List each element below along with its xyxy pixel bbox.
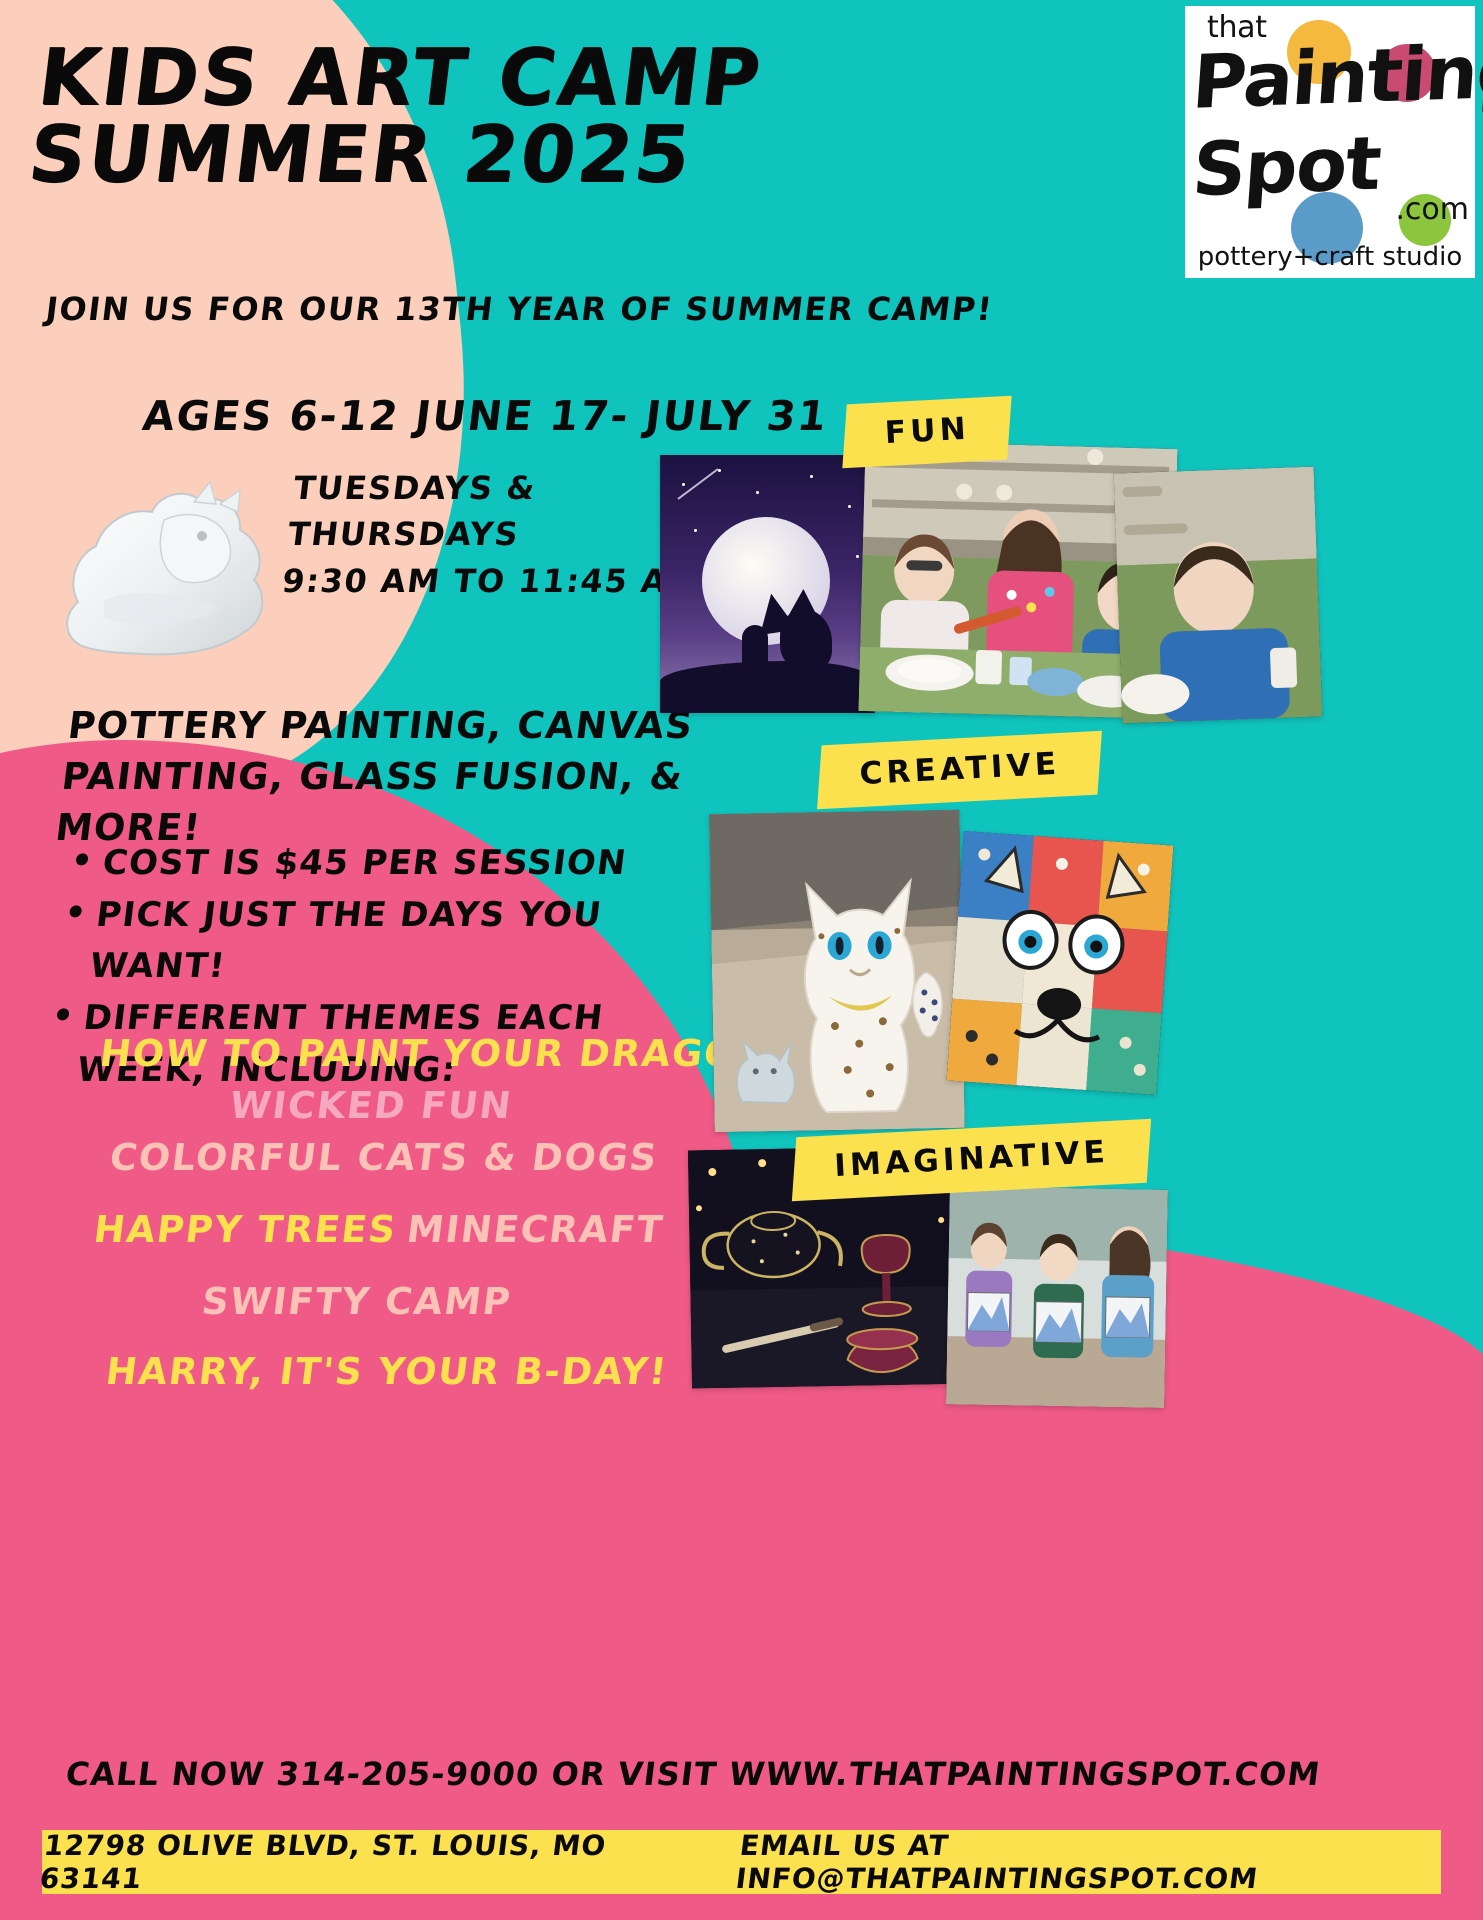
schedule-block: Tuesdays & Thursdays 9:30 am to 11:45 am bbox=[279, 465, 715, 604]
subtitle: Join us for our 13th year of summer camp… bbox=[44, 290, 996, 328]
flyer-canvas: Kids Art Camp Summer 2025 that Painting … bbox=[0, 0, 1483, 1920]
moon-dragon-painting-photo bbox=[660, 455, 875, 713]
schedule-time: 9:30 am to 11:45 am bbox=[279, 558, 703, 604]
ages-and-dates: Ages 6-12 June 17- July 31 bbox=[140, 392, 831, 440]
logo-tagline: pottery+craft studio bbox=[1185, 242, 1475, 272]
theme-name: How to Paint Your Dragon bbox=[98, 1035, 772, 1072]
badge-fun-label: Fun bbox=[884, 411, 971, 451]
theme-name-list: How to Paint Your DragonWicked FunColorf… bbox=[62, 1035, 782, 1415]
list-item: Cost is $45 per session bbox=[62, 838, 748, 890]
schedule-days-1: Tuesdays & bbox=[291, 465, 715, 511]
brand-logo[interactable]: that Painting Spot .com pottery+craft st… bbox=[1185, 6, 1475, 278]
logo-painting-text: Painting bbox=[1189, 28, 1483, 126]
dragon-figurine-photo bbox=[44, 450, 294, 665]
logo-dotcom-text: .com bbox=[1395, 192, 1469, 227]
badge-creative-label: Creative bbox=[859, 746, 1061, 792]
kids-holding-canvases-photo bbox=[946, 1186, 1168, 1408]
page-title: Kids Art Camp Summer 2025 bbox=[25, 40, 767, 194]
theme-name: Harry, It's Your B-Day! bbox=[104, 1353, 670, 1390]
ceramic-cat-sculpture-photo bbox=[709, 810, 965, 1132]
call-to-action-text: Call now 314-205-9000 or visit www.thatp… bbox=[64, 1755, 1323, 1793]
footer-contact-bar: 12798 Olive Blvd, St. Louis, MO 63141 Em… bbox=[42, 1830, 1441, 1894]
logo-spot-text: Spot bbox=[1190, 121, 1383, 213]
theme-name: Swifty Camp bbox=[200, 1283, 514, 1320]
footer-email: Email us at info@thatpaintingspot.com bbox=[734, 1829, 1445, 1895]
theme-name: Minecraft bbox=[405, 1211, 666, 1248]
title-line-1: Kids Art Camp bbox=[34, 40, 766, 117]
badge-creative: Creative bbox=[817, 731, 1102, 810]
theme-name: Happy Trees bbox=[92, 1211, 399, 1248]
theme-name: Colorful Cats & Dogs bbox=[108, 1139, 660, 1176]
list-item: Pick just the days you want! bbox=[49, 890, 742, 993]
badge-fun: Fun bbox=[842, 396, 1012, 469]
services-description: Pottery painting, canvas painting, glass… bbox=[53, 700, 732, 853]
kids-painting-right-photo bbox=[1114, 467, 1323, 724]
title-line-2: Summer 2025 bbox=[25, 117, 757, 194]
theme-name: Wicked Fun bbox=[228, 1087, 515, 1124]
footer-address: 12798 Olive Blvd, St. Louis, MO 63141 bbox=[38, 1829, 686, 1895]
colorful-dog-canvas-photo bbox=[947, 831, 1174, 1095]
schedule-days-2: Thursdays bbox=[285, 511, 709, 557]
badge-imaginative-label: Imaginative bbox=[833, 1134, 1109, 1184]
